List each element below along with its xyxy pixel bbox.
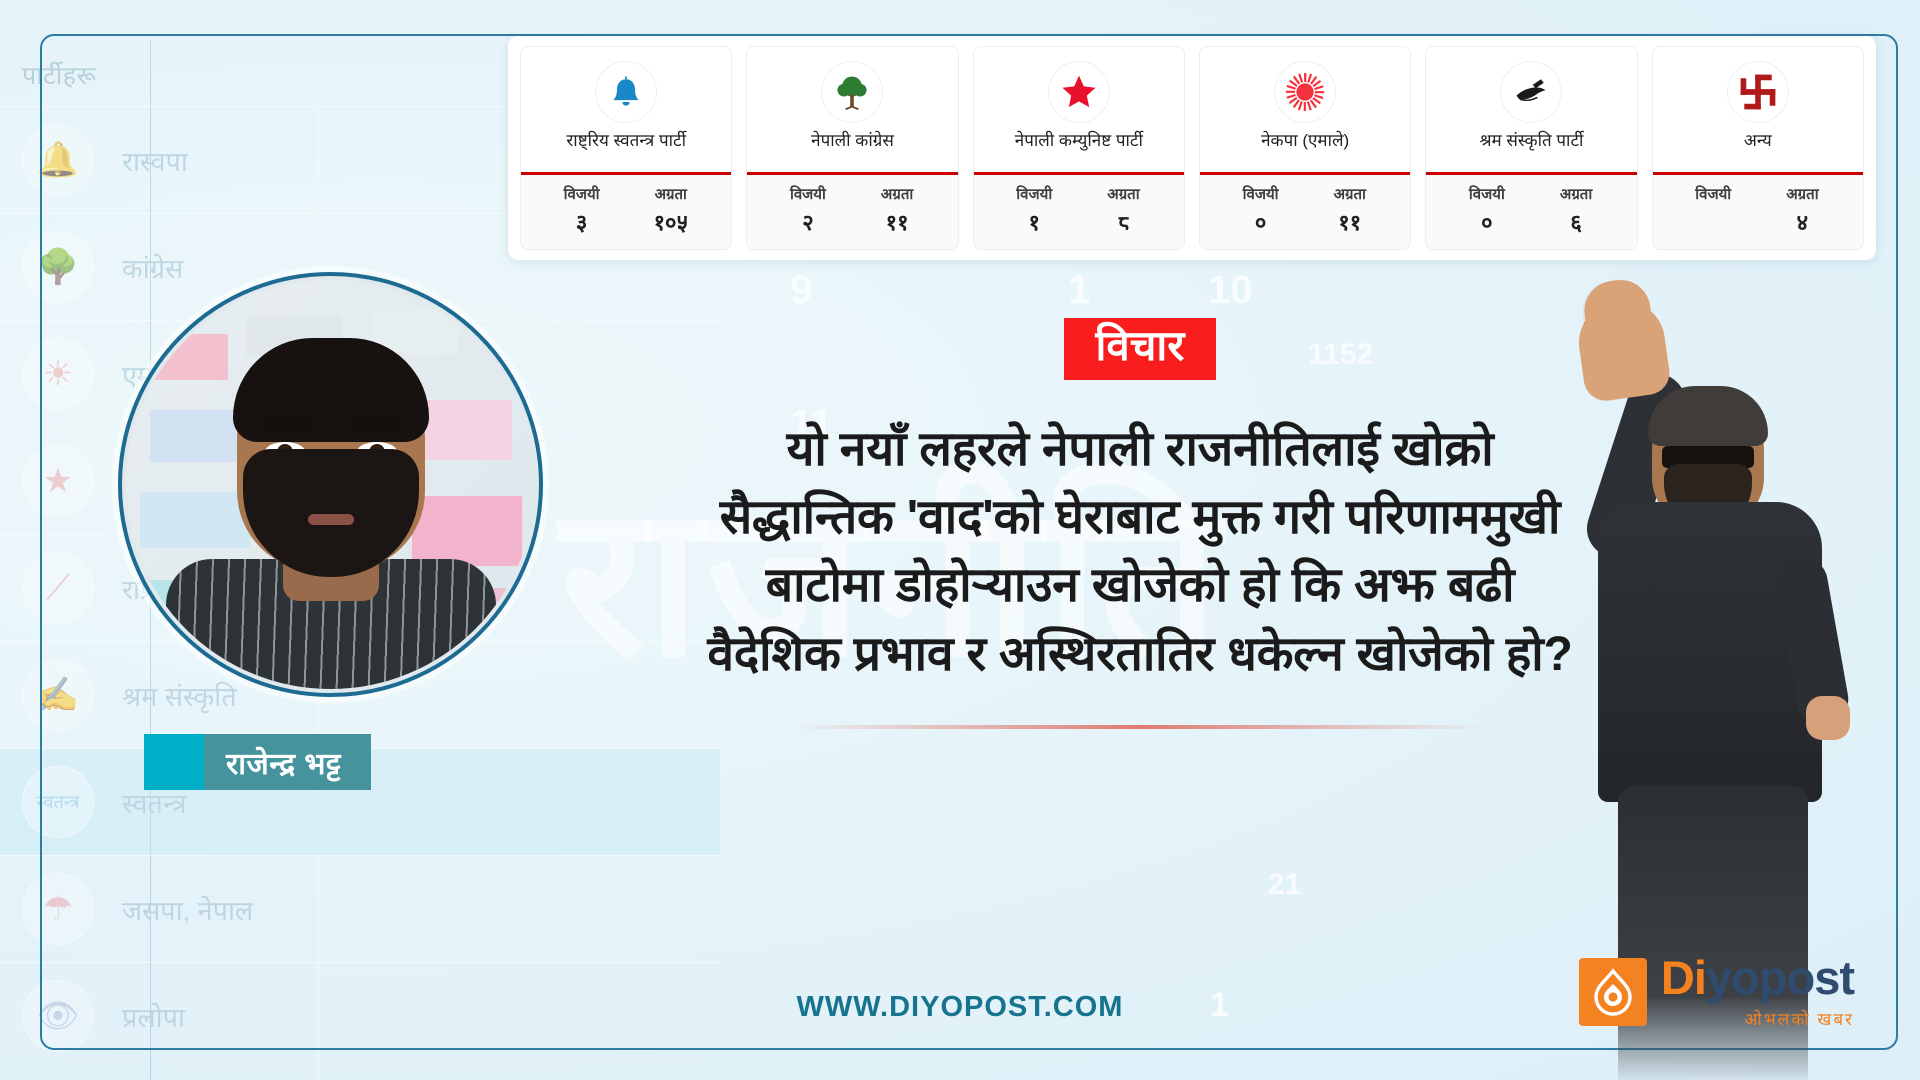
stat-leading-value: ११ <box>1305 207 1394 237</box>
stat-won: विजयी १ <box>990 184 1079 237</box>
party-stats: विजयी ३ अग्रता १०५ <box>521 175 731 249</box>
bell-symbol <box>595 61 657 123</box>
stat-leading-label: अग्रता <box>1079 184 1168 204</box>
stat-won-label: विजयी <box>1669 184 1758 204</box>
party-stats: विजयी १ अग्रता ८ <box>974 175 1184 249</box>
party-name: नेपाली कम्युनिष्ट पार्टी <box>1011 131 1147 151</box>
party-stats: विजयी ० अग्रता ११ <box>1200 175 1410 249</box>
article-headline-block: विचार यो नयाँ लहरले नेपाली राजनीतिलाई खो… <box>700 318 1580 729</box>
tree-symbol <box>821 61 883 123</box>
party-result-card[interactable]: राष्ट्रिय स्वतन्त्र पार्टी विजयी ३ अग्रत… <box>520 46 732 250</box>
party-result-card[interactable]: अन्य विजयी अग्रता ४ <box>1652 46 1864 250</box>
headline-divider <box>790 725 1490 729</box>
stat-won: विजयी ३ <box>537 184 626 237</box>
hand-icon: ✍ <box>22 659 94 731</box>
author-portrait <box>118 272 543 697</box>
stat-leading-label: अग्रता <box>853 184 942 204</box>
party-card-top: राष्ट्रिय स्वतन्त्र पार्टी <box>521 47 731 172</box>
portrait-photo <box>126 280 535 689</box>
stat-won-value: २ <box>763 207 852 237</box>
stat-won-label: विजयी <box>1216 184 1305 204</box>
politician-legs <box>1618 786 1808 1080</box>
stat-leading: अग्रता ४ <box>1758 184 1847 237</box>
party-name: अन्य <box>1740 131 1776 151</box>
stat-leading: अग्रता ११ <box>853 184 942 237</box>
sun-icon: ☀ <box>22 338 94 410</box>
stat-won-label: विजयी <box>763 184 852 204</box>
brand-tagline: ओभलको खबर <box>1744 1007 1854 1030</box>
watermark-number: 21 <box>1268 868 1301 902</box>
stat-won: विजयी २ <box>763 184 852 237</box>
stat-won-value: १ <box>990 207 1079 237</box>
author-name: राजेन्द्र भट्ट <box>204 734 371 790</box>
star-icon: ★ <box>22 445 94 517</box>
stat-leading-value: ४ <box>1758 207 1847 237</box>
stat-leading: अग्रता १०५ <box>626 184 715 237</box>
stat-won: विजयी ० <box>1216 184 1305 237</box>
stat-leading: अग्रता ११ <box>1305 184 1394 237</box>
diyo-flame-icon <box>1579 958 1647 1026</box>
party-stats: विजयी अग्रता ४ <box>1653 175 1863 249</box>
stat-leading: अग्रता ६ <box>1531 184 1620 237</box>
tree-icon: 🌳 <box>22 231 94 303</box>
party-result-card[interactable]: नेपाली कांग्रेस विजयी २ अग्रता ११ <box>746 46 958 250</box>
stat-won-label: विजयी <box>1442 184 1531 204</box>
watermark-number: 1 <box>1068 268 1090 313</box>
stat-leading-label: अग्रता <box>1531 184 1620 204</box>
sidebar-item-umbrella[interactable]: ☂ जसपा, नेपाल <box>0 855 720 962</box>
watermark-number: 9 <box>790 268 812 313</box>
party-name: नेकपा (एमाले) <box>1257 131 1353 151</box>
stat-leading-label: अग्रता <box>626 184 715 204</box>
hand-pen-symbol <box>1500 61 1562 123</box>
plough-icon: ⟋ <box>22 552 94 624</box>
party-card-top: नेपाली कांग्रेस <box>747 47 957 172</box>
stat-won: विजयी ० <box>1442 184 1531 237</box>
party-name: श्रम संस्कृति पार्टी <box>1476 131 1588 151</box>
independent-icon: स्वतन्त्र <box>22 766 94 838</box>
bell-icon: 🔔 <box>22 124 94 196</box>
stat-leading-value: १०५ <box>626 207 715 237</box>
stat-leading: अग्रता ८ <box>1079 184 1168 237</box>
star-symbol <box>1048 61 1110 123</box>
stat-leading-value: ११ <box>853 207 942 237</box>
party-result-card[interactable]: नेपाली कम्युनिष्ट पार्टी विजयी १ अग्रता … <box>973 46 1185 250</box>
portrait-head <box>237 346 425 571</box>
author-name-banner: राजेन्द्र भट्ट <box>144 734 371 790</box>
stat-won-label: विजयी <box>990 184 1079 204</box>
party-stats: विजयी २ अग्रता ११ <box>747 175 957 249</box>
watermark-number: 10 <box>1208 268 1253 313</box>
stat-won-value: ३ <box>537 207 626 237</box>
banner-accent-tab <box>144 734 204 790</box>
stat-won: विजयी <box>1669 184 1758 237</box>
sidebar-item-label: जसपा, नेपाल <box>122 891 253 928</box>
party-card-top: नेपाली कम्युनिष्ट पार्टी <box>974 47 1184 172</box>
stat-leading-value: ६ <box>1531 207 1620 237</box>
party-name: राष्ट्रिय स्वतन्त्र पार्टी <box>562 131 690 151</box>
party-name: नेपाली कांग्रेस <box>807 131 898 151</box>
stat-leading-label: अग्रता <box>1305 184 1394 204</box>
party-stats: विजयी ० अग्रता ६ <box>1426 175 1636 249</box>
election-results-cards: राष्ट्रिय स्वतन्त्र पार्टी विजयी ३ अग्रत… <box>508 36 1876 260</box>
stat-leading-label: अग्रता <box>1758 184 1847 204</box>
politician-cutout <box>1534 256 1864 956</box>
party-card-top: अन्य <box>1653 47 1863 172</box>
stat-won-label: विजयी <box>537 184 626 204</box>
politician-hair <box>1648 386 1768 446</box>
waving-hand <box>1574 296 1673 403</box>
party-card-top: श्रम संस्कृति पार्टी <box>1426 47 1636 172</box>
stat-leading-value: ८ <box>1079 207 1168 237</box>
diyopost-logo: Diyopost ओभलको खबर <box>1579 954 1854 1030</box>
stat-won-value: ० <box>1216 207 1305 237</box>
poster-canvas: पार्टीहरू 🔔 रास्वपा 🌳 कांग्रेस ☀ एमाले ★… <box>0 0 1920 1080</box>
portrait-figure <box>181 319 481 689</box>
party-result-card[interactable]: नेकपा (एमाले) विजयी ० अग्रता ११ <box>1199 46 1411 250</box>
party-result-card[interactable]: श्रम संस्कृति पार्टी विजयी ० अग्रता ६ <box>1425 46 1637 250</box>
stat-won-value: ० <box>1442 207 1531 237</box>
umbrella-icon: ☂ <box>22 873 94 945</box>
portrait-beard <box>243 449 419 577</box>
sidebar-item-label: रास्वपा <box>122 142 188 179</box>
politician-fist <box>1806 696 1850 740</box>
brand-name: Diyopost <box>1661 954 1854 1001</box>
article-title: यो नयाँ लहरले नेपाली राजनीतिलाई खोक्रो स… <box>700 416 1580 689</box>
swastika-symbol <box>1727 61 1789 123</box>
category-badge: विचार <box>1064 318 1217 380</box>
sun-symbol <box>1274 61 1336 123</box>
party-card-top: नेकपा (एमाले) <box>1200 47 1410 172</box>
